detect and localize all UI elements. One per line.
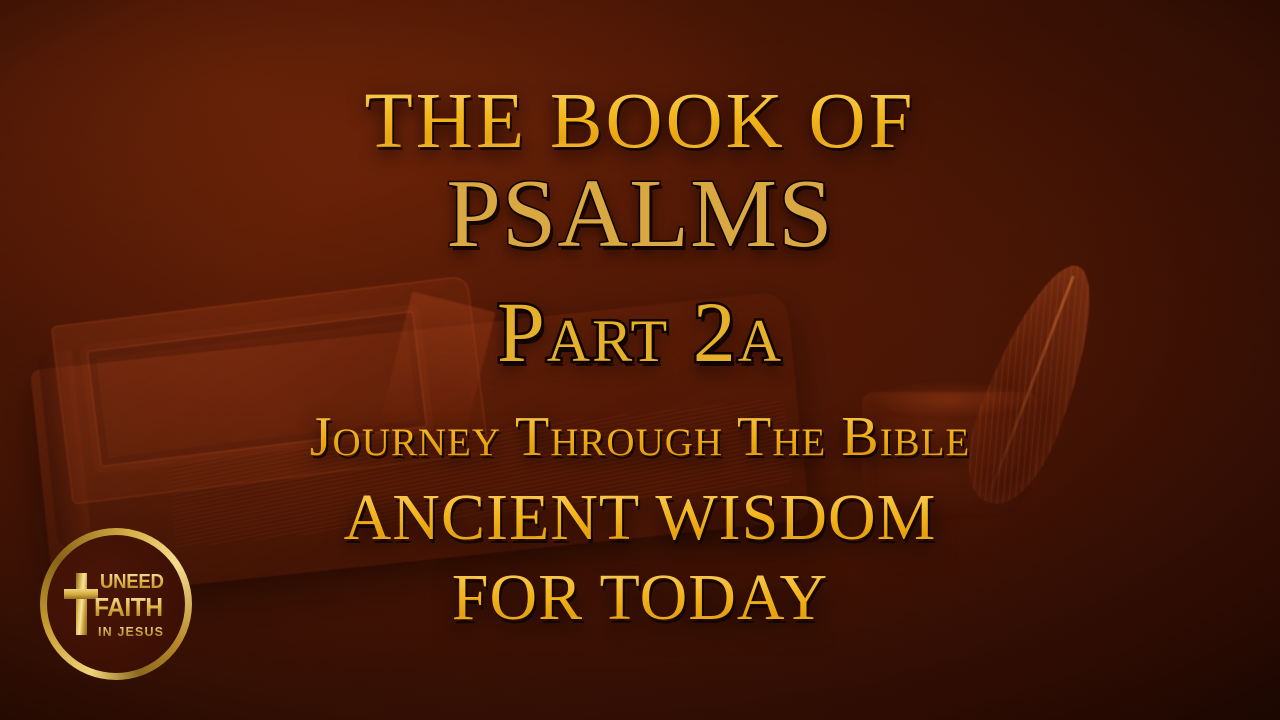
uneed-faith-logo[interactable]: UNEED FAITH IN JESUS	[40, 528, 192, 680]
logo-word-uneed: UNEED	[100, 572, 164, 592]
cross-horizontal-bar	[64, 589, 98, 599]
logo-wordmark: UNEED FAITH IN JESUS	[100, 572, 169, 638]
logo-lockup: UNEED FAITH IN JESUS	[64, 572, 169, 638]
logo-word-in-jesus: IN JESUS	[98, 625, 164, 638]
tagline-line-2: FOR TODAY	[452, 565, 828, 631]
series-subtitle: Journey Through The Bible	[310, 409, 971, 465]
title-line-the-book-of: THE BOOK OF	[365, 82, 916, 161]
cross-icon	[64, 573, 98, 635]
title-text-stack: THE BOOK OF PSALMS Part 2a Journey Throu…	[0, 0, 1280, 720]
part-label: Part 2a	[497, 289, 783, 375]
logo-inner-content: UNEED FAITH IN JESUS	[40, 528, 192, 680]
tagline-line-1: ANCIENT WISDOM	[344, 485, 937, 551]
cross-vertical-bar	[76, 573, 87, 635]
logo-word-faith: FAITH	[94, 594, 163, 620]
title-slide: THE BOOK OF PSALMS Part 2a Journey Throu…	[0, 0, 1280, 720]
title-line-psalms: PSALMS	[446, 165, 833, 263]
